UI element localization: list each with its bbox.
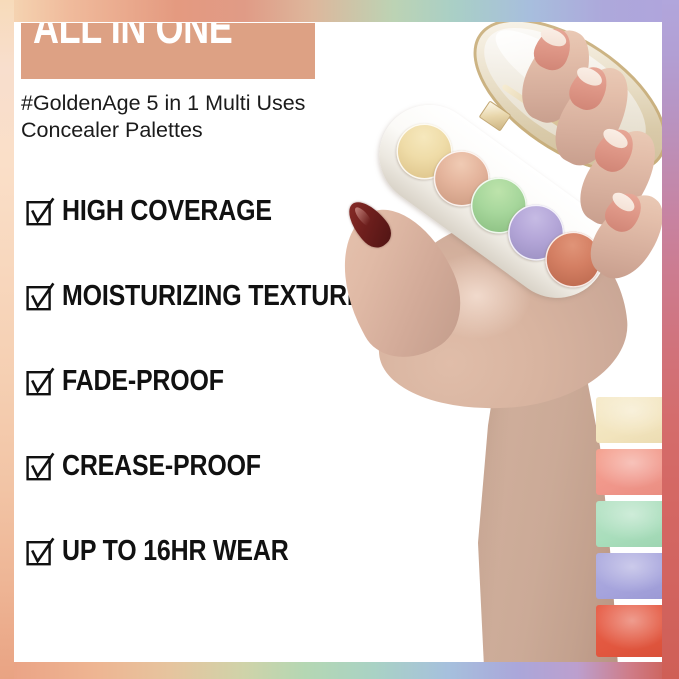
headline-band: ALL IN ONE [21,23,315,79]
checklist-label: UP TO 16HR WEAR [62,530,325,572]
checked-box-icon [26,367,55,396]
subtitle-line-2: Concealer Palettes [21,117,381,144]
arm-swatch-lavender [596,553,662,599]
arm-swatch-coral [596,605,662,657]
page-title: ALL IN ONE [33,22,232,50]
checked-box-icon [26,537,55,566]
frame-edge-right [662,0,679,679]
swatch-sheen [596,501,662,547]
checklist-label: CREASE-PROOF [62,445,293,487]
swatch-sheen [596,605,662,657]
headline-text-wrap: ALL IN ONE [33,28,282,73]
arm-swatch-peach [596,449,662,495]
checked-box-icon [26,282,55,311]
swatch-sheen [596,449,662,495]
checked-box-icon [26,452,55,481]
product-card: ALL IN ONE #GoldenAge 5 in 1 Multi Uses … [14,22,662,662]
checklist-label: HIGH COVERAGE [62,190,306,232]
subtitle-line-1: #GoldenAge 5 in 1 Multi Uses [21,90,381,117]
swatch-sheen [596,553,662,599]
swatch-sheen [596,397,662,443]
frame-edge-bottom [0,662,679,679]
arm-swatch-yellow [596,397,662,443]
product-subtitle: #GoldenAge 5 in 1 Multi Uses Concealer P… [21,90,381,144]
checked-box-icon [26,197,55,226]
frame-edge-left [0,0,14,679]
checklist-label: FADE-PROOF [62,360,250,402]
arm-swatch-green [596,501,662,547]
product-photo [332,22,662,662]
gradient-frame: ALL IN ONE #GoldenAge 5 in 1 Multi Uses … [0,0,679,679]
frame-edge-top [0,0,679,22]
